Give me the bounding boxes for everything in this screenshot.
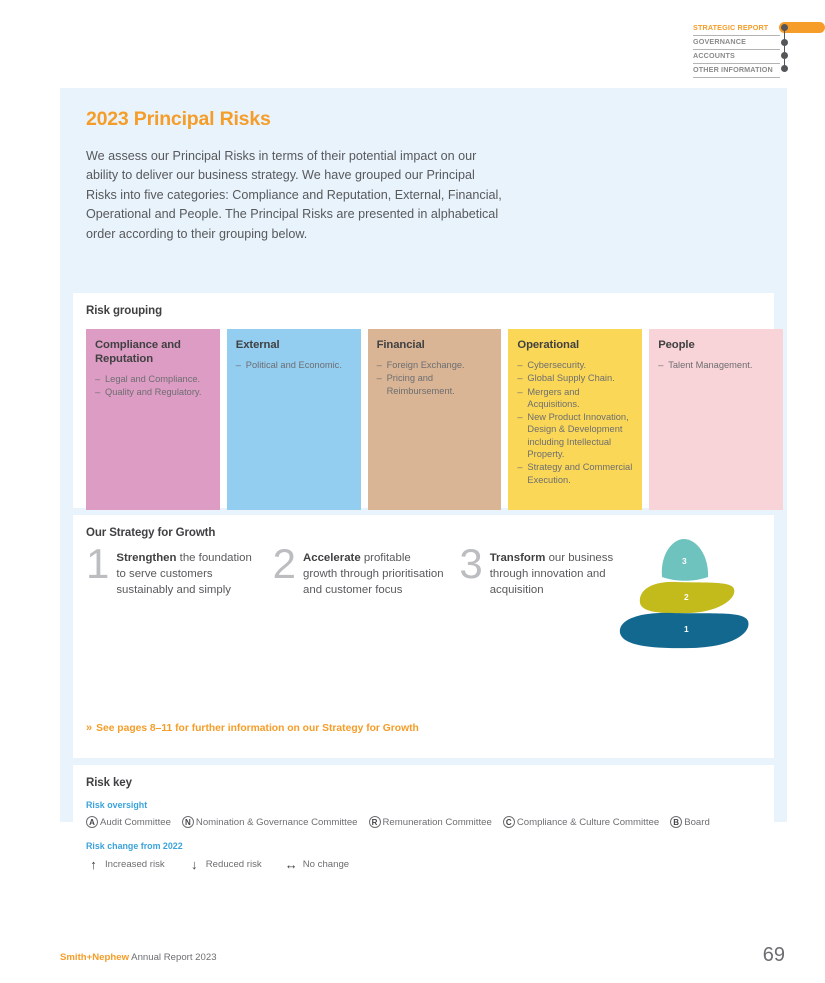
- risk-column-heading: People: [658, 338, 774, 352]
- strategy-title: Our Strategy for Growth: [73, 515, 774, 539]
- risk-item: Quality and Regulatory.: [95, 386, 211, 398]
- tab-governance[interactable]: GOVERNANCE: [693, 36, 780, 50]
- tab-marker-dot-3: [781, 52, 788, 59]
- risk-item: New Product Innovation, Design & Develop…: [517, 411, 633, 460]
- legend-item-audit-committee: A Audit Committee: [86, 816, 171, 828]
- tab-accounts-label: ACCOUNTS: [693, 51, 780, 60]
- legend-item-increased-risk: ↑ Increased risk: [86, 857, 165, 872]
- strategy-lead-word: Transform: [490, 552, 546, 564]
- blob-label-1: 1: [684, 624, 689, 634]
- section-tab-navigator: STRATEGIC REPORT GOVERNANCE ACCOUNTS OTH…: [693, 22, 825, 72]
- arrow-left-right-icon: ↔: [284, 857, 299, 872]
- tab-strategic-report-label: STRATEGIC REPORT: [693, 23, 780, 32]
- risk-item: Pricing and Reimbursement.: [377, 372, 493, 397]
- committee-initial-badge: C: [503, 816, 515, 828]
- committee-initial-badge: A: [86, 816, 98, 828]
- risk-column-external: External Political and Economic.: [227, 329, 361, 510]
- intro-block: 2023 Principal Risks We assess our Princ…: [60, 88, 787, 250]
- double-chevron-right-icon: »: [86, 722, 90, 734]
- risk-column-compliance-and-reputation: Compliance and Reputation Legal and Comp…: [86, 329, 220, 510]
- risk-column-heading: Financial: [377, 338, 493, 352]
- legend-item-nomination-governance-committee: N Nomination & Governance Committee: [182, 816, 358, 828]
- strategy-blob-stack: 3 2 1: [614, 537, 754, 650]
- risk-column-heading: Compliance and Reputation: [95, 338, 211, 366]
- risk-change-legend: ↑ Increased risk ↓ Reduced risk ↔ No cha…: [73, 857, 774, 872]
- risk-key-title: Risk key: [73, 765, 774, 789]
- arrow-up-icon: ↑: [86, 857, 101, 872]
- risk-change-name: No change: [303, 859, 349, 870]
- footer-source: Smith+Nephew Annual Report 2023: [60, 952, 217, 963]
- tab-marker-dot-1: [781, 24, 788, 31]
- risk-column-financial: Financial Foreign Exchange. Pricing and …: [368, 329, 502, 510]
- committee-initial-badge: R: [369, 816, 381, 828]
- risk-item: Cybersecurity.: [517, 359, 633, 371]
- risk-item: Legal and Compliance.: [95, 373, 211, 385]
- legend-item-no-change: ↔ No change: [284, 857, 349, 872]
- principal-risks-panel: 2023 Principal Risks We assess our Princ…: [60, 88, 787, 822]
- legend-item-reduced-risk: ↓ Reduced risk: [187, 857, 262, 872]
- strategy-lead-word: Accelerate: [303, 552, 361, 564]
- committee-initial-badge: B: [670, 816, 682, 828]
- risk-grouping-title: Risk grouping: [73, 293, 774, 317]
- committee-name: Compliance & Culture Committee: [517, 817, 659, 828]
- legend-item-remuneration-committee: R Remuneration Committee: [369, 816, 492, 828]
- risk-change-name: Reduced risk: [206, 859, 262, 870]
- strategy-text: Accelerate profitable growth through pri…: [303, 548, 445, 599]
- risk-item: Strategy and Commercial Execution.: [517, 461, 633, 486]
- strategy-number: 2: [273, 544, 296, 599]
- see-also-label: See pages 8–11 for further information o…: [96, 723, 419, 734]
- page-title: 2023 Principal Risks: [86, 108, 761, 131]
- risk-key-card: Risk key Risk oversight A Audit Committe…: [73, 765, 774, 897]
- committee-initial-badge: N: [182, 816, 194, 828]
- blob-label-2: 2: [684, 592, 689, 602]
- strategy-lead-word: Strengthen: [116, 552, 176, 564]
- risk-item: Talent Management.: [658, 359, 774, 371]
- risk-column-people: People Talent Management.: [649, 329, 783, 510]
- strategy-items: 1 Strengthen the foundation to serve cus…: [86, 548, 646, 599]
- tab-marker-dot-4: [781, 65, 788, 72]
- page-number: 69: [763, 944, 785, 967]
- risk-column-heading: Operational: [517, 338, 633, 352]
- footer-brand: Smith+Nephew: [60, 952, 129, 963]
- strategy-number: 1: [86, 544, 109, 599]
- risk-item: Foreign Exchange.: [377, 359, 493, 371]
- risk-item: Mergers and Acquisitions.: [517, 386, 633, 411]
- legend-item-board: B Board: [670, 816, 710, 828]
- arrow-down-icon: ↓: [187, 857, 202, 872]
- committee-name: Remuneration Committee: [383, 817, 492, 828]
- tab-other-information-label: OTHER INFORMATION: [693, 65, 780, 74]
- strategy-item-2: 2 Accelerate profitable growth through p…: [273, 548, 460, 599]
- tab-list: STRATEGIC REPORT GOVERNANCE ACCOUNTS OTH…: [693, 22, 780, 78]
- committee-name: Board: [684, 817, 710, 828]
- risk-item: Political and Economic.: [236, 359, 352, 371]
- risk-grouping-card: Risk grouping Compliance and Reputation …: [73, 293, 774, 508]
- strategy-number: 3: [459, 544, 482, 599]
- committee-legend: A Audit Committee N Nomination & Governa…: [73, 816, 774, 828]
- risk-column-heading: External: [236, 338, 352, 352]
- strategy-text: Transform our business through innovatio…: [490, 548, 632, 599]
- footer-report-text: Annual Report 2023: [129, 952, 216, 963]
- tab-marker-dot-2: [781, 39, 788, 46]
- strategy-card: Our Strategy for Growth 1 Strengthen the…: [73, 515, 774, 758]
- tab-accounts[interactable]: ACCOUNTS: [693, 50, 780, 64]
- risk-oversight-label: Risk oversight: [73, 800, 774, 810]
- tab-strategic-report[interactable]: STRATEGIC REPORT: [693, 22, 780, 36]
- strategy-text: Strengthen the foundation to serve custo…: [116, 548, 258, 599]
- risk-change-name: Increased risk: [105, 859, 165, 870]
- risk-item: Global Supply Chain.: [517, 372, 633, 384]
- risk-change-label: Risk change from 2022: [73, 841, 774, 851]
- strategy-item-1: 1 Strengthen the foundation to serve cus…: [86, 548, 273, 599]
- blob-label-3: 3: [682, 556, 687, 566]
- risk-grouping-columns: Compliance and Reputation Legal and Comp…: [86, 329, 783, 510]
- see-also-link[interactable]: » See pages 8–11 for further information…: [86, 722, 419, 734]
- committee-name: Nomination & Governance Committee: [196, 817, 358, 828]
- legend-item-compliance-culture-committee: C Compliance & Culture Committee: [503, 816, 659, 828]
- intro-paragraph: We assess our Principal Risks in terms o…: [86, 147, 506, 244]
- risk-column-operational: Operational Cybersecurity. Global Supply…: [508, 329, 642, 510]
- tab-governance-label: GOVERNANCE: [693, 37, 780, 46]
- tab-other-information[interactable]: OTHER INFORMATION: [693, 64, 780, 78]
- committee-name: Audit Committee: [100, 817, 171, 828]
